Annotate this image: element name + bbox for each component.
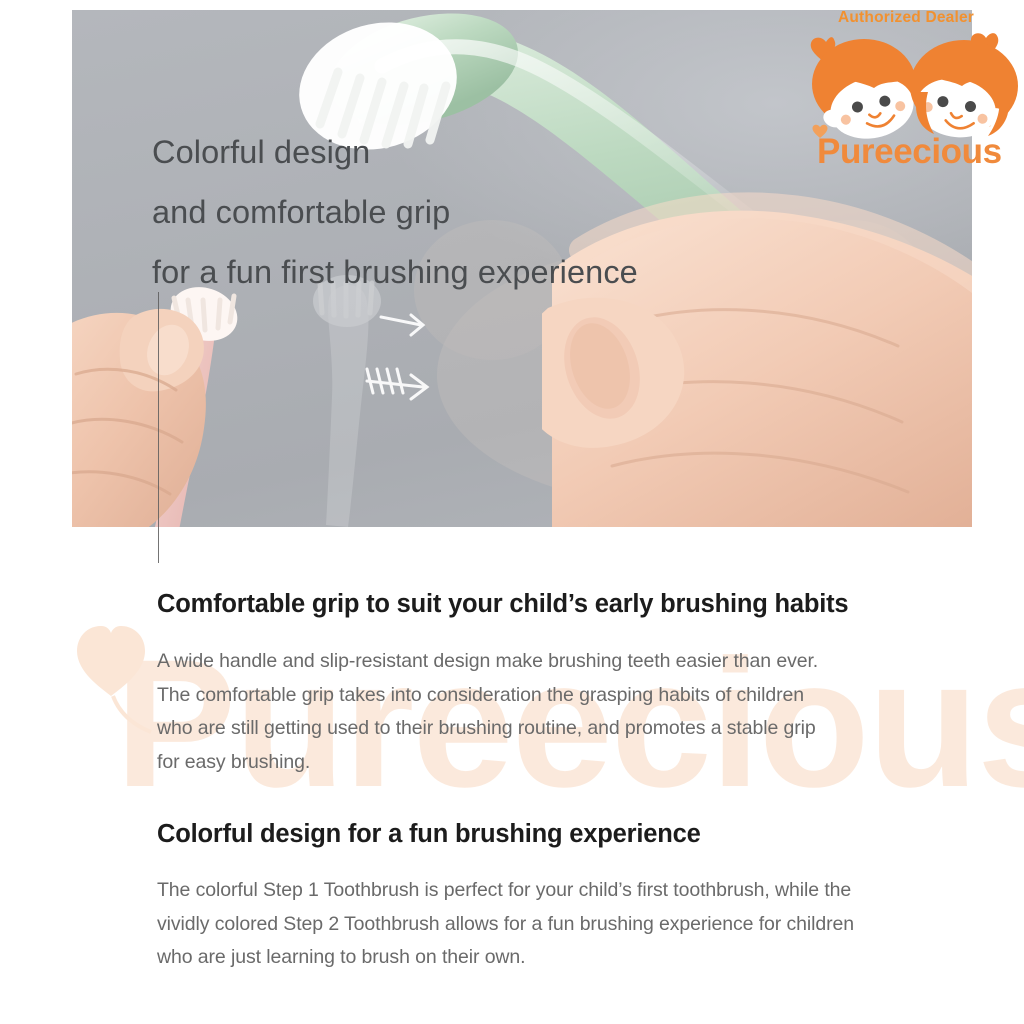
section-1-body-line-1: A wide handle and slip-resistant design … — [157, 645, 957, 679]
hero-line-2: and comfortable grip — [152, 182, 638, 242]
section-2-body-line-2: vividly colored Step 2 Toothbrush allows… — [157, 908, 957, 942]
section-1-body-line-3: who are still getting used to their brus… — [157, 712, 957, 746]
mascot-faces — [800, 22, 1024, 144]
section-2-heading: Colorful design for a fun brushing exper… — [157, 822, 701, 848]
section-2-body: The colorful Step 1 Toothbrush is perfec… — [157, 874, 957, 975]
section-1-body-line-2: The comfortable grip takes into consider… — [157, 679, 957, 713]
section-1-heading: Comfortable grip to suit your child’s ea… — [157, 592, 848, 618]
section-2-body-line-3: who are just learning to brush on their … — [157, 941, 957, 975]
leader-line — [158, 292, 159, 563]
brand-logo: Authorized Dealer — [800, 4, 1024, 180]
section-1-body-line-4: for easy brushing. — [157, 746, 957, 780]
hero-line-1: Colorful design — [152, 122, 638, 182]
sketch-arrow-icons — [357, 295, 487, 425]
brand-wordmark: Pureecious — [817, 134, 1002, 169]
section-1-body: A wide handle and slip-resistant design … — [157, 645, 957, 779]
hero-line-3: for a fun first brushing experience — [152, 242, 638, 302]
hero-headline: Colorful design and comfortable grip for… — [152, 122, 638, 302]
section-2-body-line-1: The colorful Step 1 Toothbrush is perfec… — [157, 874, 957, 908]
